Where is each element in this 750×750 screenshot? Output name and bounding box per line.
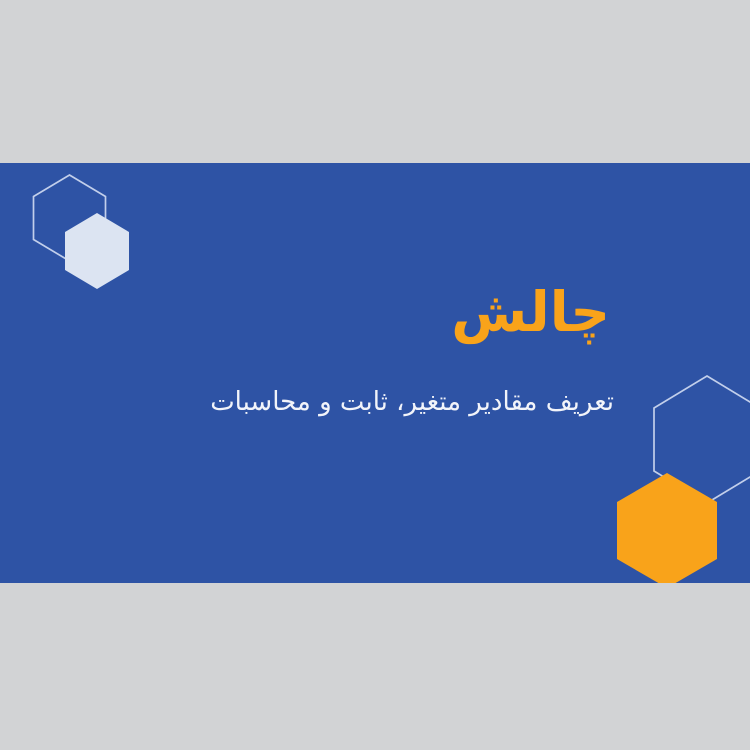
slide-panel: چالش تعریف مقادیر متغیر، ثابت و محاسبات	[0, 163, 750, 583]
page-subtitle: تعریف مقادیر متغیر، ثابت و محاسبات	[210, 385, 614, 420]
slide-stage: چالش تعریف مقادیر متغیر، ثابت و محاسبات	[0, 0, 750, 750]
slide-text-block: چالش تعریف مقادیر متغیر، ثابت و محاسبات	[0, 163, 750, 583]
page-title: چالش	[451, 285, 610, 340]
